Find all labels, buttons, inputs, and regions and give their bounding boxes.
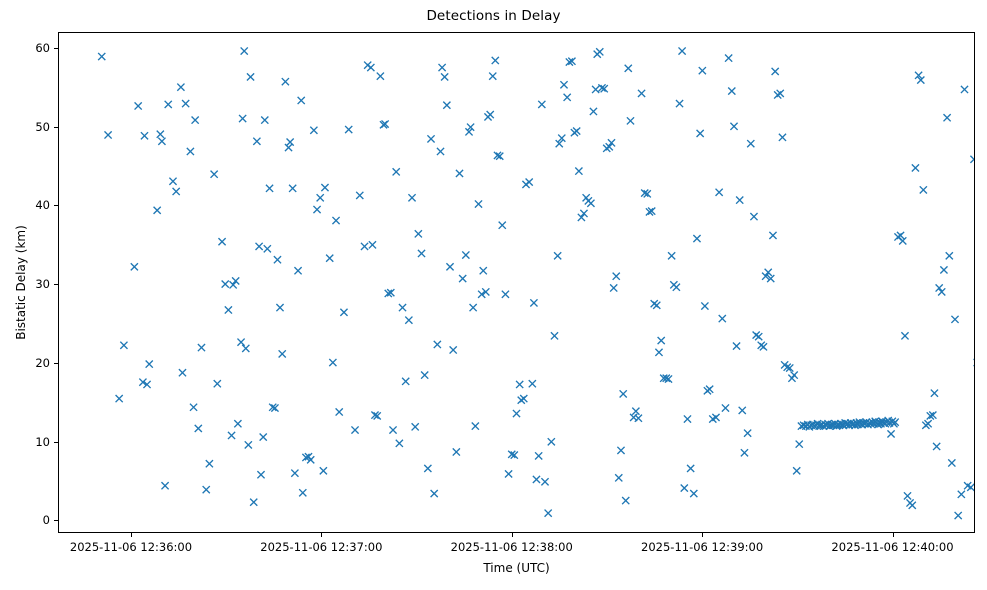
y-tick-mark: [54, 48, 58, 49]
chart-title: Detections in Delay: [0, 8, 987, 24]
scatter-layer: [59, 33, 974, 532]
x-tick-mark: [893, 533, 894, 537]
y-tick-mark: [54, 205, 58, 206]
x-tick-mark: [702, 533, 703, 537]
y-axis-label: Bistatic Delay (km): [14, 32, 30, 533]
x-axis-label: Time (UTC): [58, 561, 975, 575]
plot-area: [58, 32, 975, 533]
x-tick-label: 2025-11-06 12:38:00: [451, 540, 573, 554]
y-tick-mark: [54, 363, 58, 364]
x-tick-mark: [131, 533, 132, 537]
figure: Detections in Delay 0102030405060 2025-1…: [0, 0, 987, 590]
x-tick-label: 2025-11-06 12:39:00: [641, 540, 763, 554]
x-tick-mark: [512, 533, 513, 537]
x-tick-label: 2025-11-06 12:36:00: [70, 540, 192, 554]
x-tick-label: 2025-11-06 12:37:00: [260, 540, 382, 554]
y-tick-mark: [54, 127, 58, 128]
y-tick-mark: [54, 442, 58, 443]
x-tick-label: 2025-11-06 12:40:00: [831, 540, 953, 554]
y-tick-mark: [54, 520, 58, 521]
x-tick-mark: [321, 533, 322, 537]
y-tick-mark: [54, 284, 58, 285]
